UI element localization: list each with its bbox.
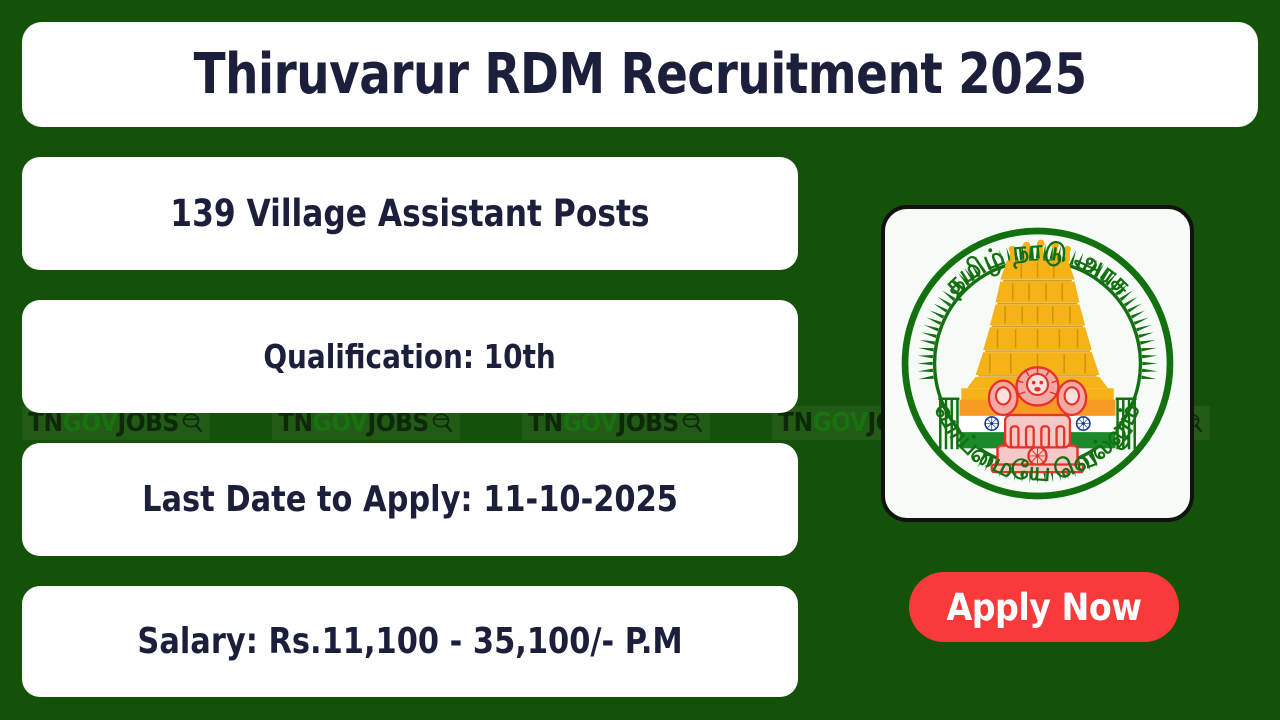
apply-now-button[interactable]: Apply Now	[909, 572, 1179, 642]
detail-card-qualification: Qualification: 10th	[22, 300, 798, 413]
magnifier-icon	[180, 411, 204, 435]
detail-card-salary-label: Salary: Rs.11,100 - 35,100/- P.M	[137, 621, 682, 662]
detail-card-last-date-label: Last Date to Apply: 11-10-2025	[142, 479, 678, 520]
detail-card-posts-label: 139 Village Assistant Posts	[170, 192, 649, 235]
magnifier-icon	[680, 411, 704, 435]
detail-card-qualification-label: Qualification: 10th	[264, 337, 556, 376]
apply-now-label: Apply Now	[946, 586, 1141, 629]
page-title-card: Thiruvarur RDM Recruitment 2025	[22, 22, 1258, 127]
tamil-nadu-government-emblem: தமிழ் நாடு அரசு வாய்மையே வெல்லும்	[881, 205, 1194, 522]
detail-card-salary: Salary: Rs.11,100 - 35,100/- P.M	[22, 586, 798, 697]
magnifier-icon	[430, 411, 454, 435]
page-title: Thiruvarur RDM Recruitment 2025	[193, 42, 1086, 107]
watermark-text-gov: GOV	[813, 408, 868, 438]
detail-card-posts: 139 Village Assistant Posts	[22, 157, 798, 270]
detail-card-last-date: Last Date to Apply: 11-10-2025	[22, 443, 798, 556]
